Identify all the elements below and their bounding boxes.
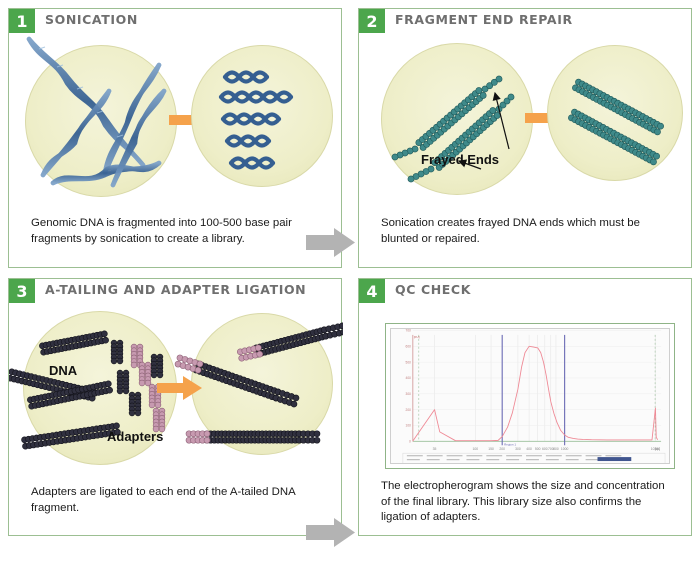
svg-text:600: 600 xyxy=(406,345,412,349)
svg-text:[FU]: [FU] xyxy=(414,335,420,339)
svg-text:500: 500 xyxy=(406,360,412,364)
svg-text:300: 300 xyxy=(406,392,412,396)
transition-arrow-1-to-3 xyxy=(306,228,356,258)
panel-2-header: 2 FRAGMENT END REPAIR xyxy=(359,9,691,33)
panel-3-number: 3 xyxy=(9,279,35,303)
figure-root: 1 SONICATION xyxy=(0,0,700,573)
electropherogram: 3510015020030040050060070080010001038001… xyxy=(385,323,675,469)
svg-text:200: 200 xyxy=(499,447,505,451)
dna-fragments xyxy=(221,73,291,168)
svg-text:600: 600 xyxy=(542,447,548,451)
panel-3-header: 3 A-TAILING AND ADAPTER LIGATION xyxy=(9,279,341,303)
svg-text:[bp]: [bp] xyxy=(655,447,660,451)
svg-text:500: 500 xyxy=(535,447,541,451)
dna-label: DNA xyxy=(49,363,77,378)
svg-text:800: 800 xyxy=(553,447,559,451)
panel-a-tailing-adapter-ligation: 3 A-TAILING AND ADAPTER LIGATION DNA Ada… xyxy=(8,278,342,536)
panel-2-blunt-graphics xyxy=(359,33,693,203)
svg-text:150: 150 xyxy=(488,447,494,451)
panel-sonication: 1 SONICATION xyxy=(8,8,342,268)
panel-4-title: QC CHECK xyxy=(395,282,471,297)
panel-3-title: A-TAILING AND ADAPTER LIGATION xyxy=(45,282,306,297)
svg-text:700: 700 xyxy=(406,329,412,333)
panel-2-number: 2 xyxy=(359,9,385,33)
transition-arrow-3-to-4 xyxy=(306,518,356,548)
panel-1-number: 1 xyxy=(9,9,35,33)
svg-text:100: 100 xyxy=(406,424,412,428)
svg-text:0: 0 xyxy=(409,440,411,444)
svg-text:Region 1: Region 1 xyxy=(504,442,516,446)
svg-text:100: 100 xyxy=(472,447,478,451)
panel-1-caption: Genomic DNA is fragmented into 100-500 b… xyxy=(31,216,321,247)
svg-text:300: 300 xyxy=(515,447,521,451)
panel-1-fragment-graphics xyxy=(9,33,343,203)
panel-1-title: SONICATION xyxy=(45,12,138,27)
svg-text:400: 400 xyxy=(406,376,412,380)
panel-2-caption: Sonication creates frayed DNA ends which… xyxy=(381,216,671,247)
panel-fragment-end-repair: 2 FRAGMENT END REPAIR xyxy=(358,8,692,268)
panel-4-caption: The electropherogram shows the size and … xyxy=(381,479,671,526)
svg-text:1000: 1000 xyxy=(561,447,569,451)
panel-1-illustration xyxy=(9,33,341,203)
panel-3-process-arrow xyxy=(157,375,203,401)
panel-3-caption: Adapters are ligated to each end of the … xyxy=(31,485,326,516)
panel-2-illustration: Frayed Ends xyxy=(359,33,691,203)
panel-4-number: 4 xyxy=(359,279,385,303)
panel-3-illustration: DNA Adapters xyxy=(9,303,341,473)
electropherogram-plot: 3510015020030040050060070080010001038001… xyxy=(390,328,670,464)
svg-text:35: 35 xyxy=(433,447,437,451)
svg-text:200: 200 xyxy=(406,408,412,412)
svg-text:400: 400 xyxy=(526,447,532,451)
electropherogram-trace: 3510015020030040050060070080010001038001… xyxy=(391,329,669,463)
blunt-dna-strands xyxy=(568,79,663,165)
panel-2-title: FRAGMENT END REPAIR xyxy=(395,12,573,27)
panel-qc-check: 4 QC CHECK 35100150200300400500600700800… xyxy=(358,278,692,536)
adapters-label: Adapters xyxy=(107,429,163,444)
panel-1-header: 1 SONICATION xyxy=(9,9,341,33)
panel-4-header: 4 QC CHECK xyxy=(359,279,691,303)
